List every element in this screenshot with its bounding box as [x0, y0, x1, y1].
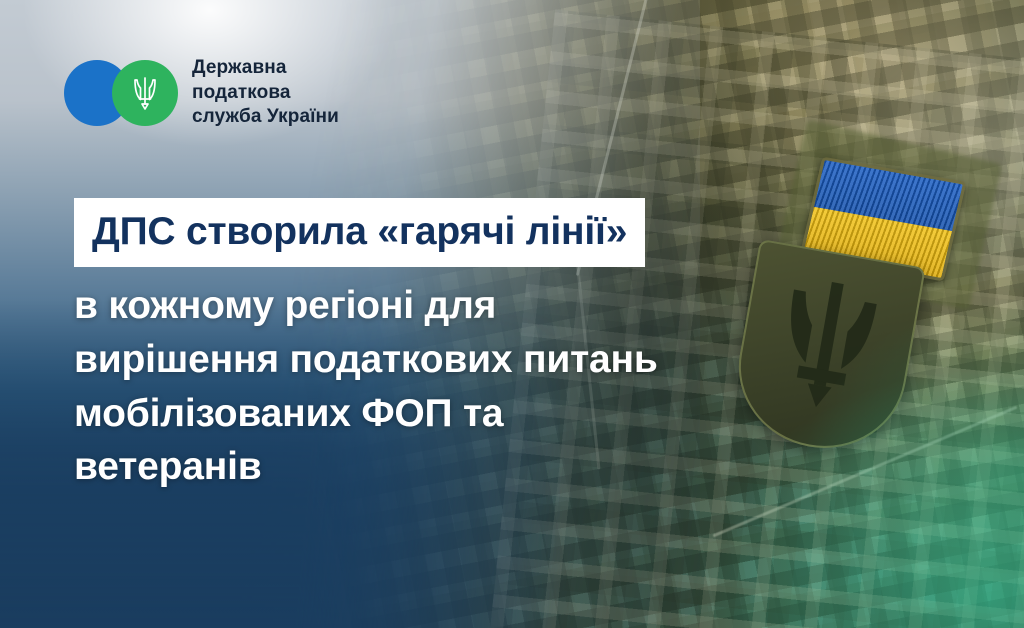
- logo-text: Державна податкова служба України: [192, 56, 339, 130]
- logo-text-line-1: Державна: [192, 56, 339, 81]
- promo-banner: Державна податкова служба України ДПС ст…: [0, 0, 1024, 628]
- headline-highlight-line: ДПС створила «гарячі лінії»: [74, 198, 645, 267]
- logo-text-line-3: служба України: [192, 105, 339, 130]
- headline: ДПС створила «гарячі лінії» в кожному ре…: [74, 198, 794, 494]
- green-circle-icon: [112, 60, 178, 126]
- dps-logo[interactable]: Державна податкова служба України: [64, 56, 339, 130]
- headline-line-4: мобілізованих ФОП та: [74, 387, 794, 441]
- headline-body: в кожному регіоні для вирішення податков…: [74, 279, 794, 494]
- headline-line-3: вирішення податкових питань: [74, 333, 794, 387]
- trident-emblem-icon: [130, 75, 160, 111]
- logo-marks: [64, 60, 178, 126]
- headline-line-2: в кожному регіоні для: [74, 279, 794, 333]
- logo-text-line-2: податкова: [192, 81, 339, 106]
- headline-line-5: ветеранів: [74, 440, 794, 494]
